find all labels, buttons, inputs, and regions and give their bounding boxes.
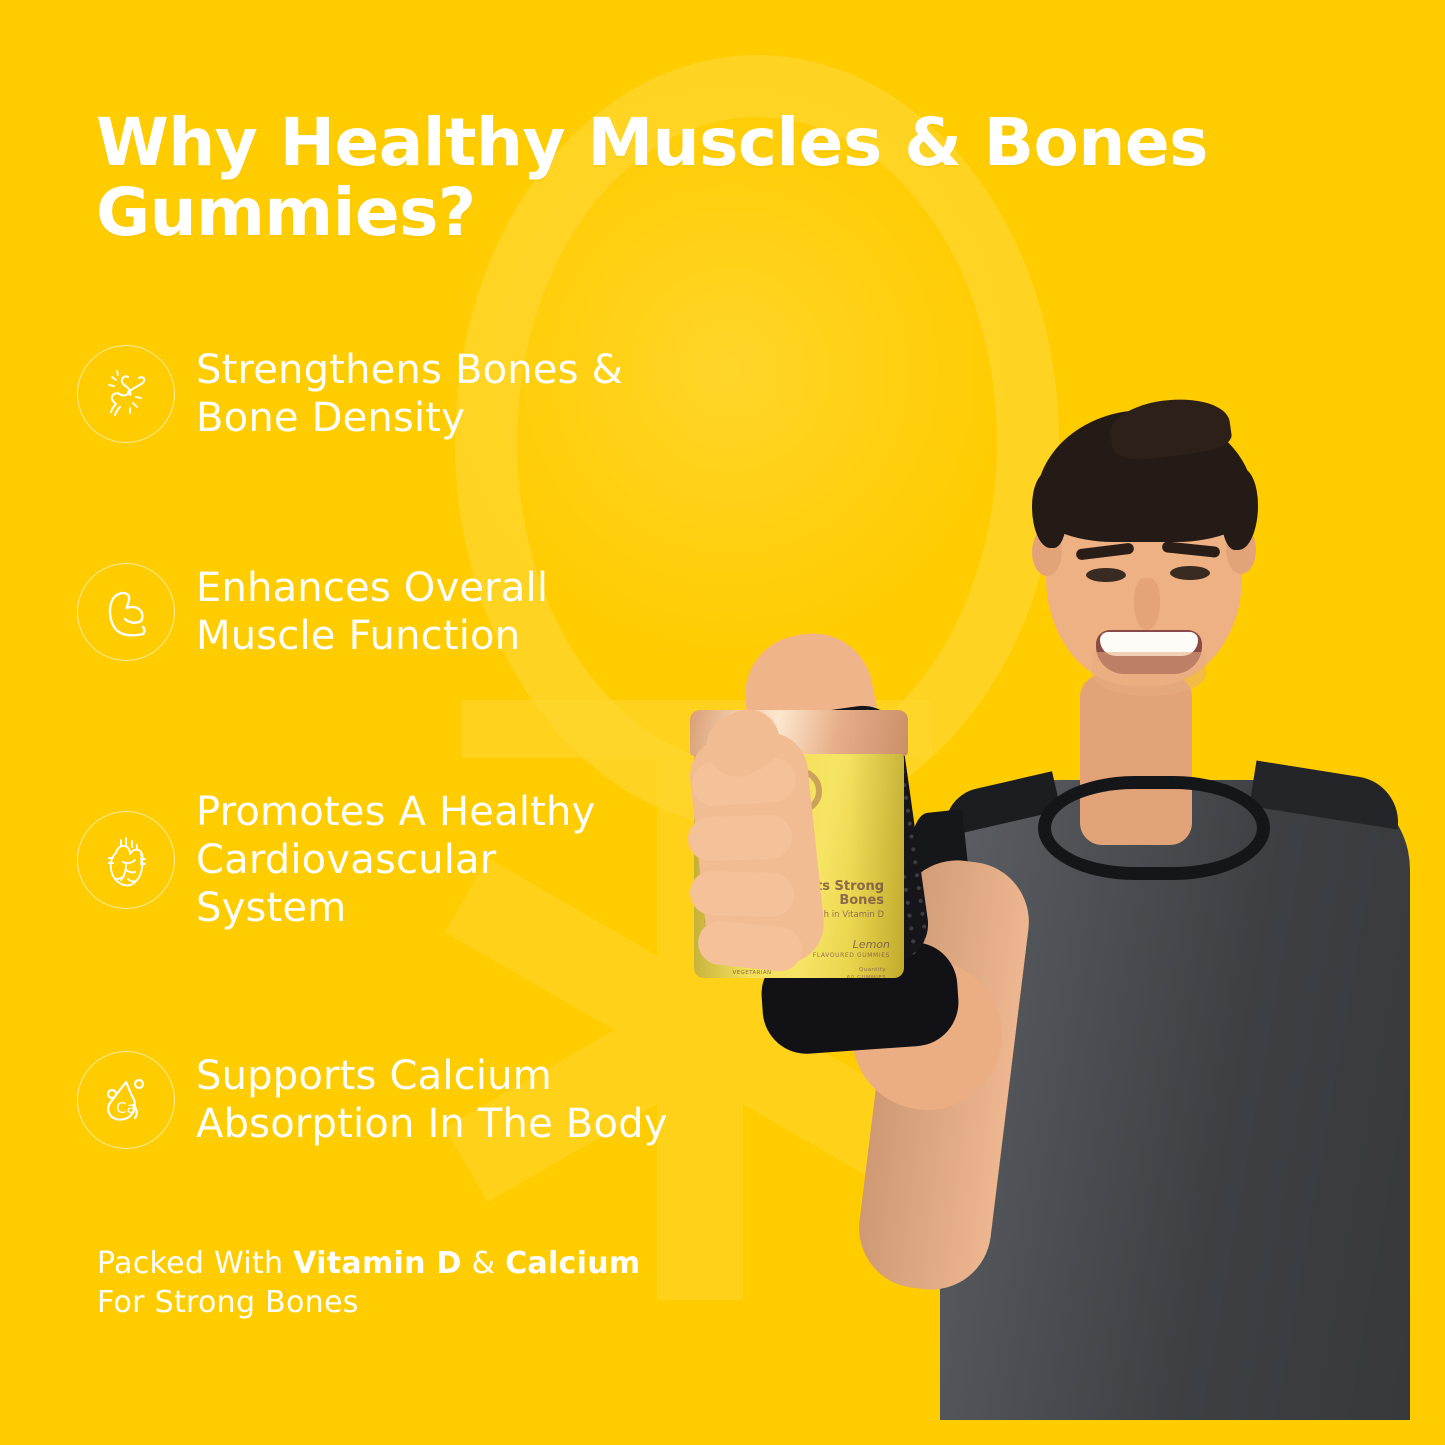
footnote: Packed With Vitamin D & Calcium For Stro… — [97, 1244, 640, 1322]
chin — [1092, 652, 1206, 696]
footnote-prefix: Packed With — [97, 1246, 293, 1281]
footnote-line-1: Packed With Vitamin D & Calcium — [97, 1244, 640, 1283]
feature-list: Strengthens Bones & Bone Density Enhance… — [62, 330, 822, 1164]
feature-item-bones: Strengthens Bones & Bone Density — [62, 330, 822, 458]
promo-banner: NUTRITION ✳ Supports Strong Bones High i… — [0, 0, 1445, 1445]
footnote-conjunction: & — [462, 1246, 505, 1281]
feature-icon-wrap: Ca — [62, 1036, 190, 1164]
hair-side-left — [1032, 472, 1066, 548]
svg-text:Ca: Ca — [116, 1099, 136, 1117]
feature-icon-wrap — [62, 330, 190, 458]
nose — [1134, 578, 1160, 630]
footnote-line-2: For Strong Bones — [97, 1283, 640, 1322]
page-title: Why Healthy Muscles & Bones Gummies? — [96, 108, 1226, 248]
anatomical-heart-icon — [77, 811, 175, 909]
feature-label: Supports Calcium Absorption In The Body — [190, 1052, 668, 1148]
eye-left — [1086, 568, 1126, 582]
collar-trim — [1038, 776, 1270, 880]
feature-icon-wrap — [62, 796, 190, 924]
bone-joint-icon — [77, 345, 175, 443]
feature-label: Strengthens Bones & Bone Density — [190, 346, 623, 442]
feature-label: Enhances Overall Muscle Function — [190, 564, 548, 660]
calcium-droplet-icon: Ca — [77, 1051, 175, 1149]
feature-icon-wrap — [62, 548, 190, 676]
eye-right — [1170, 566, 1210, 580]
footnote-calcium: Calcium — [505, 1246, 640, 1281]
feature-item-calcium: Ca Supports Calcium Absorption In The Bo… — [62, 1036, 822, 1164]
footnote-vitamin-d: Vitamin D — [293, 1246, 462, 1281]
feature-item-cardio: Promotes A Healthy Cardiovascular System — [62, 768, 822, 952]
feature-item-muscle: Enhances Overall Muscle Function — [62, 548, 822, 676]
feature-label: Promotes A Healthy Cardiovascular System — [190, 788, 595, 932]
flexed-bicep-icon — [77, 563, 175, 661]
